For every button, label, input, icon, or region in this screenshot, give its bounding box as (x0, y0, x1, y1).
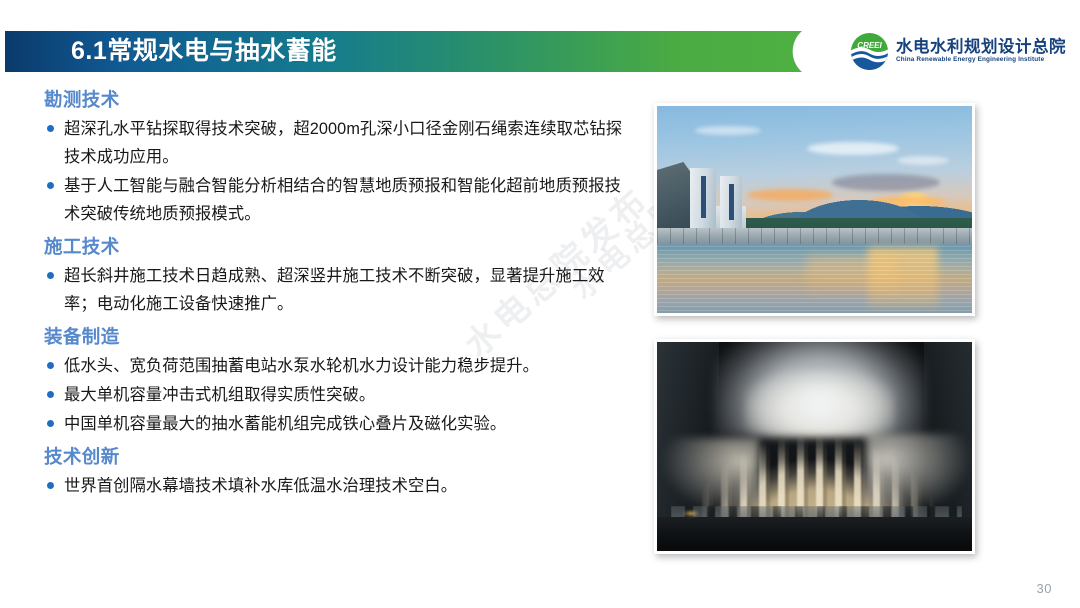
logo-name-cn: 水电水利规划设计总院 (896, 39, 1066, 56)
section-heading: 技术创新 (44, 445, 630, 470)
section-heading: 装备制造 (44, 325, 630, 350)
list-item: 中国单机容量最大的抽水蓄能机组完成铁心叠片及磁化实验。 (44, 410, 630, 438)
content-section-survey: 勘测技术 超深孔水平钻探取得技术突破，超2000m孔深小口径金刚石绳索连续取芯钻… (44, 88, 630, 228)
content-section-innovation: 技术创新 世界首创隔水幕墙技术填补水库低温水治理技术空白。 (44, 445, 630, 500)
list-item: 超深孔水平钻探取得技术突破，超2000m孔深小口径金刚石绳索连续取芯钻探技术成功… (44, 115, 630, 171)
content-section-equipment: 装备制造 低水头、宽负荷范围抽蓄电站水泵水轮机水力设计能力稳步提升。 最大单机容… (44, 325, 630, 438)
page-title: 6.1常规水电与抽水蓄能 (71, 39, 337, 64)
bullet-list: 超长斜井施工技术日趋成熟、超深竖井施工技术不断突破，显著提升施工效率；电动化施工… (44, 262, 630, 318)
list-item: 最大单机容量冲击式机组取得实质性突破。 (44, 381, 630, 409)
svg-text:CREEI: CREEI (857, 41, 882, 50)
page-number: 30 (1037, 581, 1052, 596)
creei-emblem-icon: CREEI (850, 32, 889, 71)
section-heading: 施工技术 (44, 235, 630, 260)
content-column: 勘测技术 超深孔水平钻探取得技术突破，超2000m孔深小口径金刚石绳索连续取芯钻… (44, 88, 630, 507)
logo-name-en: China Renewable Energy Engineering Insti… (896, 57, 1066, 63)
photo-canvas (657, 106, 972, 313)
slide-title-banner: 6.1常规水电与抽水蓄能 (5, 31, 820, 72)
list-item: 超长斜井施工技术日趋成熟、超深竖井施工技术不断突破，显著提升施工效率；电动化施工… (44, 262, 630, 318)
list-item: 基于人工智能与融合智能分析相结合的智慧地质预报和智能化超前地质预报技术突破传统地… (44, 172, 630, 228)
photo-canvas (657, 342, 972, 551)
list-item: 低水头、宽负荷范围抽蓄电站水泵水轮机水力设计能力稳步提升。 (44, 352, 630, 380)
organization-logo: CREEI 水电水利规划设计总院 China Renewable Energy … (850, 30, 1066, 72)
dam-spillway-discharge-photo (654, 339, 975, 554)
list-item: 世界首创隔水幕墙技术填补水库低温水治理技术空白。 (44, 472, 630, 500)
bullet-list: 世界首创隔水幕墙技术填补水库低温水治理技术空白。 (44, 472, 630, 500)
logo-text-block: 水电水利规划设计总院 China Renewable Energy Engine… (896, 39, 1066, 64)
bullet-list: 超深孔水平钻探取得技术突破，超2000m孔深小口径金刚石绳索连续取芯钻探技术成功… (44, 115, 630, 228)
hydropower-reservoir-sunset-photo (654, 103, 975, 316)
content-section-construction: 施工技术 超长斜井施工技术日趋成熟、超深竖井施工技术不断突破，显著提升施工效率；… (44, 235, 630, 318)
bullet-list: 低水头、宽负荷范围抽蓄电站水泵水轮机水力设计能力稳步提升。 最大单机容量冲击式机… (44, 352, 630, 438)
section-heading: 勘测技术 (44, 88, 630, 113)
slide-root: 6.1常规水电与抽水蓄能 CREEI 水电水利规划设计总院 China Rene… (0, 0, 1080, 608)
